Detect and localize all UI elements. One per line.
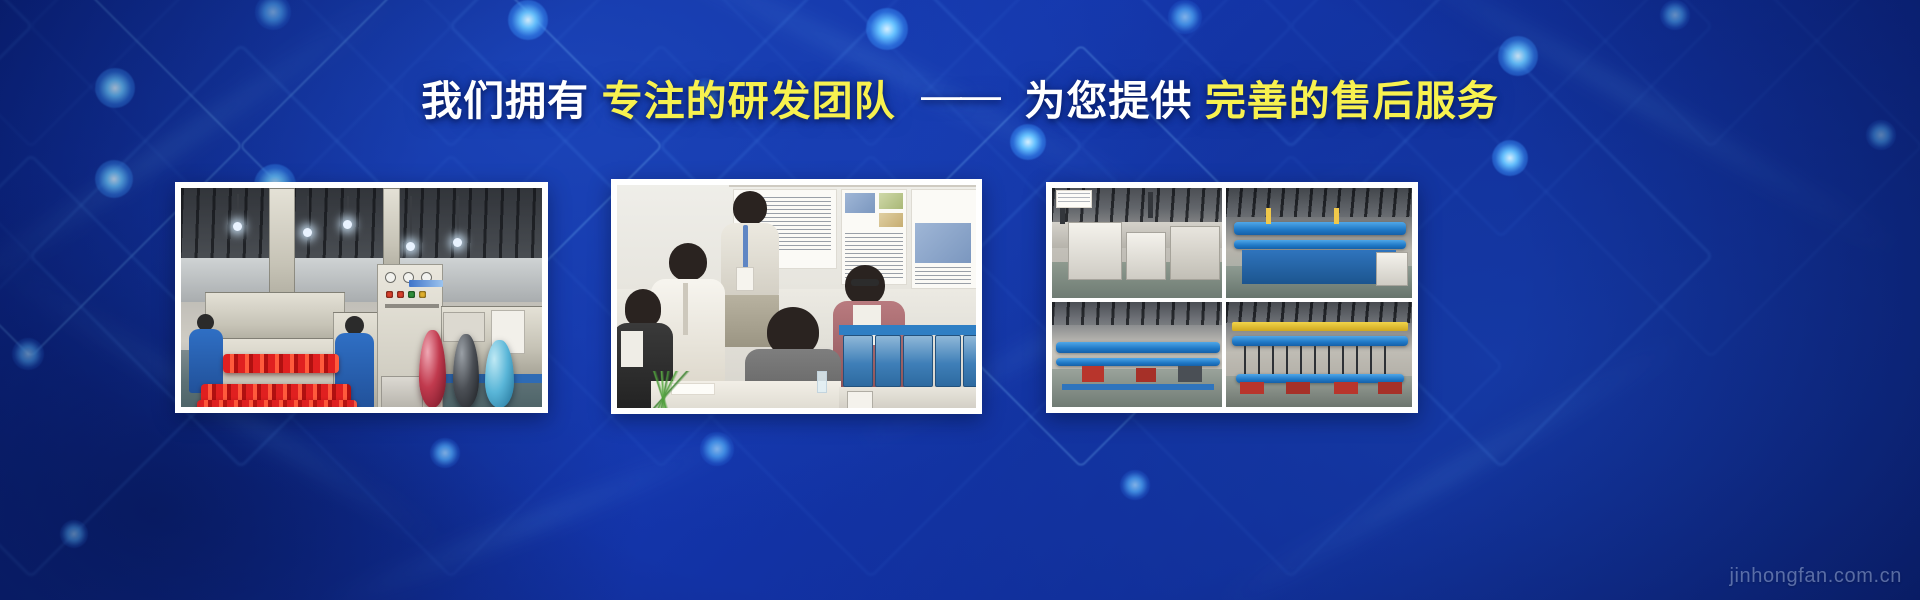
network-node-glow [12,338,44,370]
network-node-glow [1660,0,1690,30]
factory-production-scene [181,188,542,407]
rnd-meeting-scene [617,185,976,408]
headline-segment-2: 专注的研发团队 [602,78,896,124]
rnd-team-meeting-photo[interactable] [611,179,982,414]
network-node-glow [508,0,548,40]
promo-banner: 我们拥有 专注的研发团队 —— 为您提供 完善的售后服务 [0,0,1920,600]
network-node-glow [1168,0,1202,34]
headline-dash: —— [908,73,1012,117]
network-node-glow [1498,36,1538,76]
page-title: 我们拥有 专注的研发团队 —— 为您提供 完善的售后服务 [0,79,1920,123]
collage-cell-bottom-right [1226,302,1412,407]
network-node-glow [866,8,908,50]
network-node-glow [1866,120,1896,150]
headline-segment-1: 我们拥有 [421,78,589,124]
photo-frame-inner [1052,188,1412,407]
photo-frame-inner [617,185,976,408]
photo-frame-inner [181,188,542,407]
collage-cell-top-right [1226,188,1412,300]
headline-segment-3: 为您提供 [1024,78,1192,124]
network-node-glow [1120,470,1150,500]
headline-segment-4: 完善的售后服务 [1205,78,1499,124]
network-node-glow [1010,124,1046,160]
network-node-glow [430,438,460,468]
site-watermark: jinhongfan.com.cn [1729,565,1902,588]
equipment-collage-scene [1052,188,1412,407]
network-node-glow [700,432,734,466]
network-node-glow [95,160,133,198]
production-line-photo[interactable] [175,182,548,413]
equipment-collage-photo[interactable] [1046,182,1418,413]
network-node-glow [60,520,88,548]
collage-cell-bottom-left [1052,302,1224,407]
network-node-glow [1492,140,1528,176]
